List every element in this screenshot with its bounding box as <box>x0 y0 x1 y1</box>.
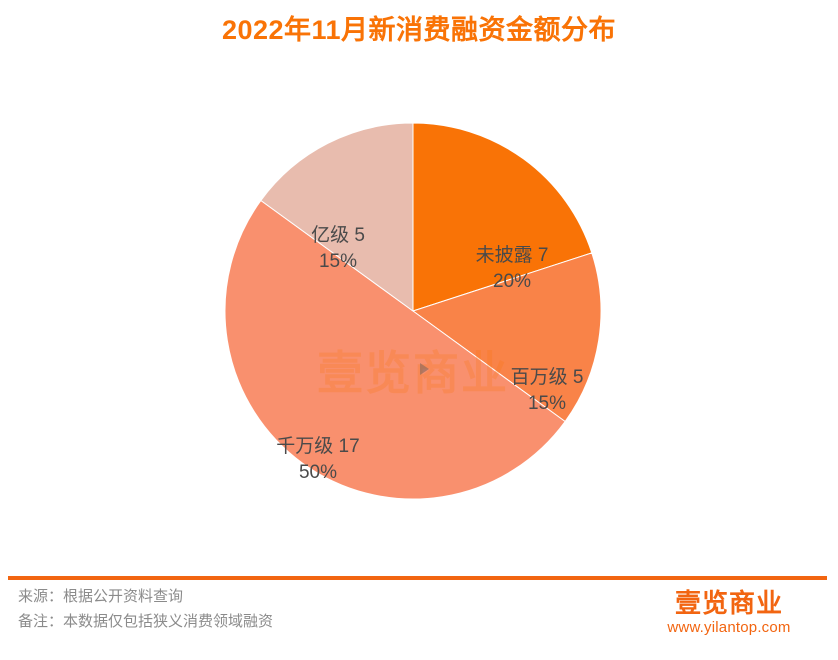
pie-label-undisclosed-name: 未披露 7 <box>452 243 572 269</box>
brand-url: www.yilantop.com <box>634 618 824 638</box>
pie-label-hundred-million: 亿级 5 15% <box>283 223 393 275</box>
pie-label-ten-million-percent: 50% <box>248 460 388 486</box>
pie-label-million-percent: 15% <box>487 391 607 417</box>
pie-label-ten-million-name: 千万级 17 <box>248 434 388 460</box>
pie-label-ten-million: 千万级 17 50% <box>248 434 388 486</box>
pie-label-hundred-million-percent: 15% <box>283 249 393 275</box>
footer-note: 备注：本数据仅包括狭义消费领域融资 <box>18 609 538 634</box>
footer-notes: 来源：根据公开资料查询 备注：本数据仅包括狭义消费领域融资 <box>18 584 538 634</box>
pie-label-million-name: 百万级 5 <box>487 365 607 391</box>
pie-label-hundred-million-name: 亿级 5 <box>283 223 393 249</box>
brand-logo: 壹览商业 www.yilantop.com <box>634 588 824 638</box>
footer-source: 来源：根据公开资料查询 <box>18 584 538 609</box>
pie-chart-area: 壹览商业 未披露 7 20% 百万级 5 15% 千万级 17 50% 亿级 5… <box>0 60 838 560</box>
pie-label-undisclosed-percent: 20% <box>452 269 572 295</box>
pie-label-undisclosed: 未披露 7 20% <box>452 243 572 295</box>
pie-label-million: 百万级 5 15% <box>487 365 607 417</box>
page-title: 2022年11月新消费融资金额分布 <box>0 13 838 47</box>
brand-name: 壹览商业 <box>634 588 824 618</box>
footer-divider <box>8 576 827 580</box>
